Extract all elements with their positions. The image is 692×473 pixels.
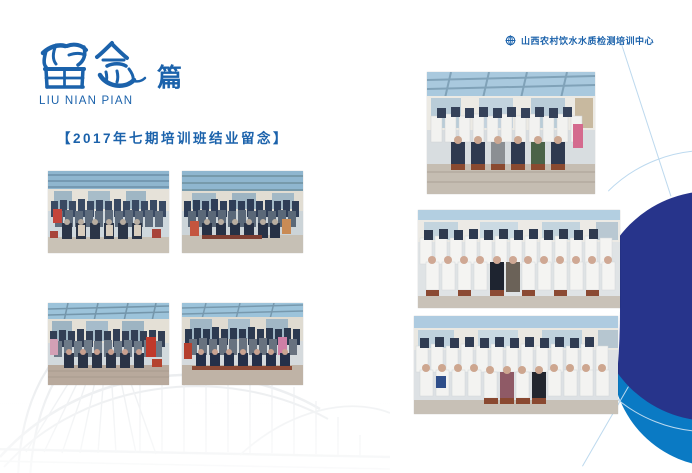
album-page: 山西农村饮水水质检测培训中心	[0, 0, 692, 473]
title-pinyin: LIU NIAN PIAN	[39, 95, 182, 107]
calligraphy-liunian-icon	[36, 38, 152, 92]
page-subtitle: 【2017年七期培训班结业留念】	[57, 127, 289, 147]
group-photo-left-bottom-1	[48, 303, 169, 385]
group-photo-left-top-1	[48, 171, 169, 253]
group-photo-right-bottom	[414, 316, 618, 414]
title-calligraphy-row: 篇	[36, 38, 182, 92]
group-photo-right-middle	[418, 210, 620, 308]
circular-globe-logo-icon	[505, 35, 516, 46]
group-photo-right-top	[427, 72, 595, 194]
group-photo-left-bottom-2	[182, 303, 303, 385]
header-brand: 山西农村饮水水质检测培训中心	[505, 34, 654, 47]
page-title-block: 篇 LIU NIAN PIAN	[36, 38, 182, 107]
title-suffix-pian: 篇	[157, 65, 182, 90]
group-photo-left-top-2	[182, 171, 303, 253]
organization-name: 山西农村饮水水质检测培训中心	[521, 34, 654, 47]
